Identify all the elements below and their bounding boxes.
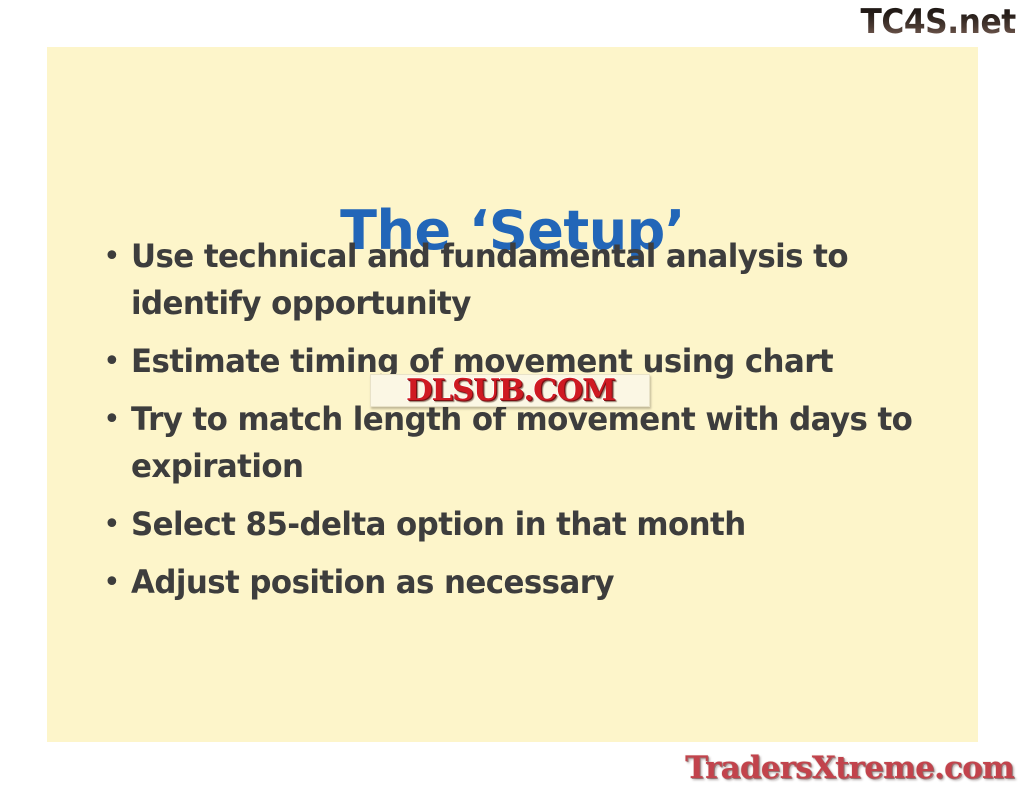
list-item: • Select 85-delta option in that month	[97, 501, 947, 548]
bullet-dot-icon: •	[97, 501, 131, 548]
bullet-dot-icon: •	[97, 559, 131, 606]
bullet-dot-icon: •	[97, 233, 131, 280]
bullet-text: Try to match length of movement with day…	[131, 396, 918, 490]
list-item: • Try to match length of movement with d…	[97, 396, 947, 490]
bullet-list: • Use technical and fundamental analysis…	[97, 233, 947, 617]
header-brand-logo: TC4S.net	[861, 2, 1016, 42]
bullet-text: Select 85-delta option in that month	[131, 501, 918, 548]
dlsub-watermark: DLSUB.COM	[370, 374, 650, 407]
list-item: • Use technical and fundamental analysis…	[97, 233, 947, 327]
bullet-text: Use technical and fundamental analysis t…	[131, 233, 918, 327]
bullet-text: Adjust position as necessary	[131, 559, 918, 606]
bullet-dot-icon: •	[97, 396, 131, 443]
footer-brand-logo: TradersXtreme.com	[685, 749, 1014, 787]
bullet-dot-icon: •	[97, 338, 131, 385]
slide-root: TC4S.net The ‘Setup’ • Use technical and…	[0, 0, 1024, 791]
list-item: • Adjust position as necessary	[97, 559, 947, 606]
dlsub-watermark-text: DLSUB.COM	[405, 376, 614, 406]
